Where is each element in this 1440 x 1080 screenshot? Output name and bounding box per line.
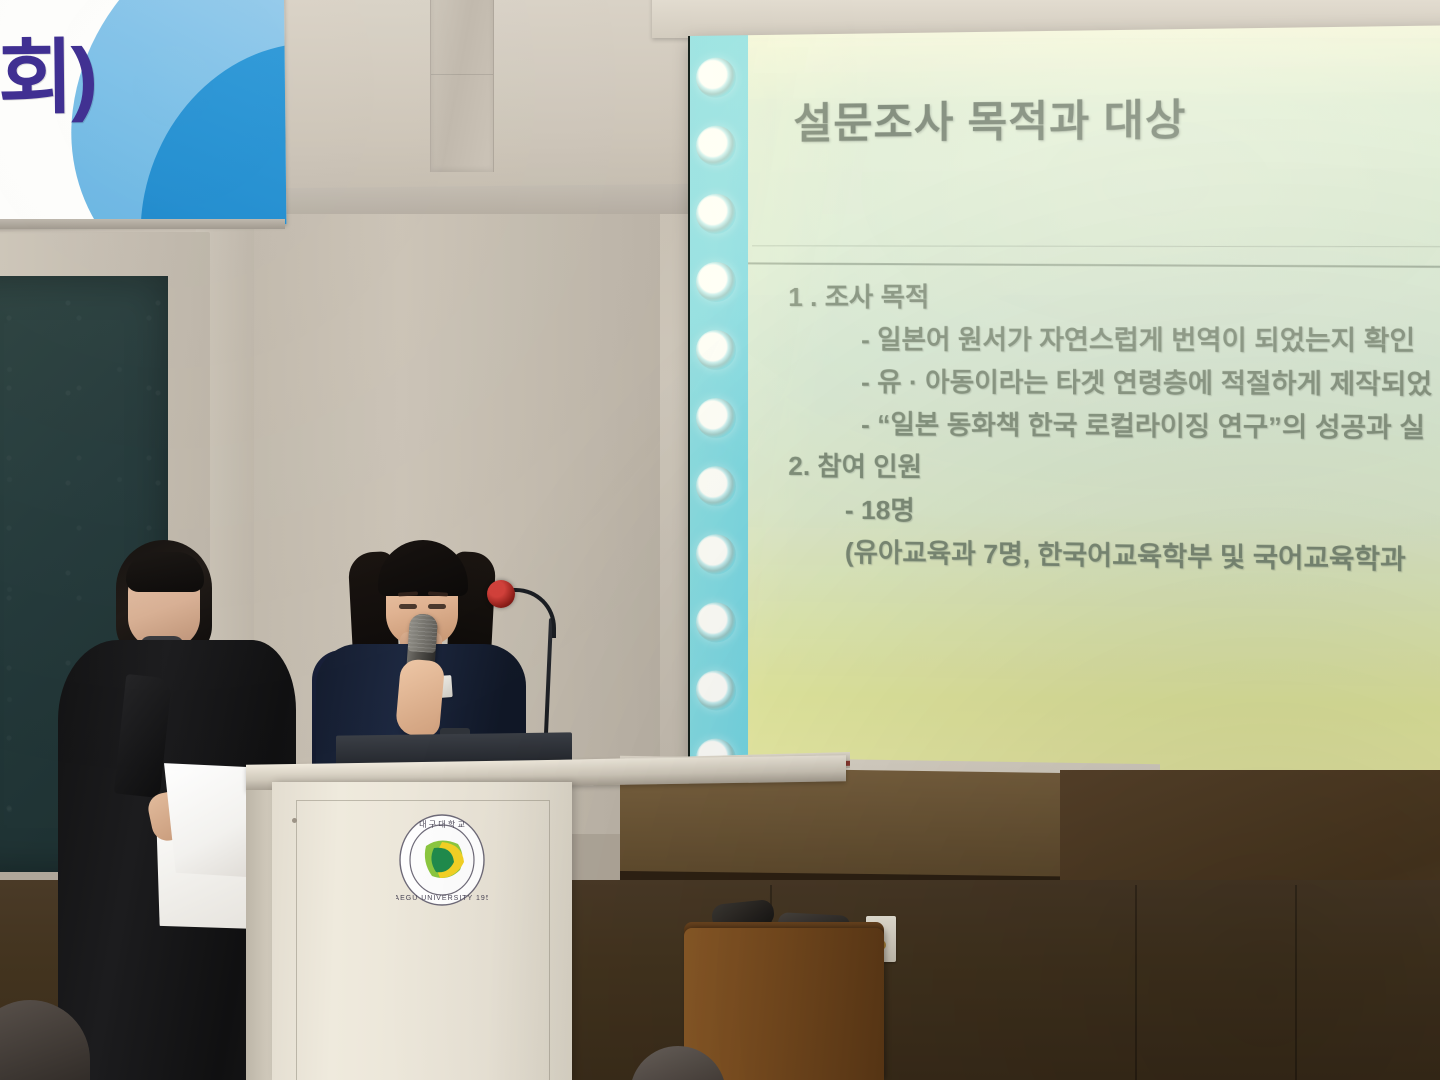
slide-divider-upper [752, 245, 1440, 247]
banner-bottom-edge [0, 219, 285, 229]
slide-decor-ring-icon [696, 466, 736, 506]
eye-right [428, 604, 446, 609]
slide-decor-ring-icon [696, 330, 736, 370]
emblem-english-text: DAEGU UNIVERSITY 1956 [396, 895, 488, 902]
slide-decor-ring-icon [696, 602, 736, 643]
slide-body-line: 1 . 조사 목적 [788, 275, 1440, 319]
slide-title: 설문조사 목적과 대상 [793, 85, 1186, 151]
slide-decor-ring-icon [696, 57, 736, 98]
emblem-korean-text: 대 구 대 학 교 [419, 819, 465, 829]
hand-holding-mic [395, 658, 445, 738]
slide-decor-ring-icon [696, 262, 736, 302]
slide-body-line: - “일본 동화책 한국 로컬라이징 연구”의 성공과 실 [788, 403, 1440, 451]
slide-divider-lower [748, 262, 1440, 268]
slide-decor-strip [690, 35, 748, 799]
presentation-slide: 설문조사 목적과 대상 1 . 조사 목적- 일본어 원서가 자연스럽게 번역이… [690, 25, 1440, 819]
slide-decor-ring-icon [696, 194, 736, 234]
slide-body-line: 2. 참여 인원 [788, 445, 1440, 495]
university-emblem-icon: 대 구 대 학 교 DAEGU UNIVERSITY 1956 [396, 812, 488, 908]
podium-screw [292, 818, 297, 823]
projection-screen: 설문조사 목적과 대상 1 . 조사 목적- 일본어 원서가 자연스럽게 번역이… [690, 25, 1440, 819]
slide-decor-ring-icon [696, 126, 736, 166]
panel-seam [1295, 885, 1297, 1080]
slide-body-line: - 일본어 원서가 자연스럽게 번역이 되었는지 확인 [788, 318, 1440, 363]
panel-seam [1135, 885, 1137, 1080]
banner-title-fragment: 표회) [0, 10, 96, 131]
hair-fringe [126, 552, 204, 592]
eye-left [399, 604, 417, 609]
slide-decor-ring-icon [696, 398, 736, 438]
presentation-room-photo: University Innovation 대학혁신지원사업 표회) 437 설… [0, 0, 1440, 1080]
slide-decor-ring-icon [696, 534, 736, 575]
mic-grille [408, 613, 439, 653]
slide-body-line: (유아교육과 7명, 한국어교육학부 및 국어교육학과 [788, 530, 1440, 584]
ceiling-duct [430, 0, 494, 172]
slide-decor-ring-icon [696, 670, 736, 711]
slide-body-line: - 유 · 아동이라는 타겟 연령층에 적절하게 제작되었 [788, 361, 1440, 407]
microphone-windscreen-icon [487, 580, 515, 608]
slide-body-text: 1 . 조사 목적- 일본어 원서가 자연스럽게 번역이 되었는지 확인- 유 … [788, 275, 1440, 584]
wooden-cabinet [684, 928, 884, 1080]
event-banner: University Innovation 대학혁신지원사업 표회) 437 [0, 0, 286, 228]
